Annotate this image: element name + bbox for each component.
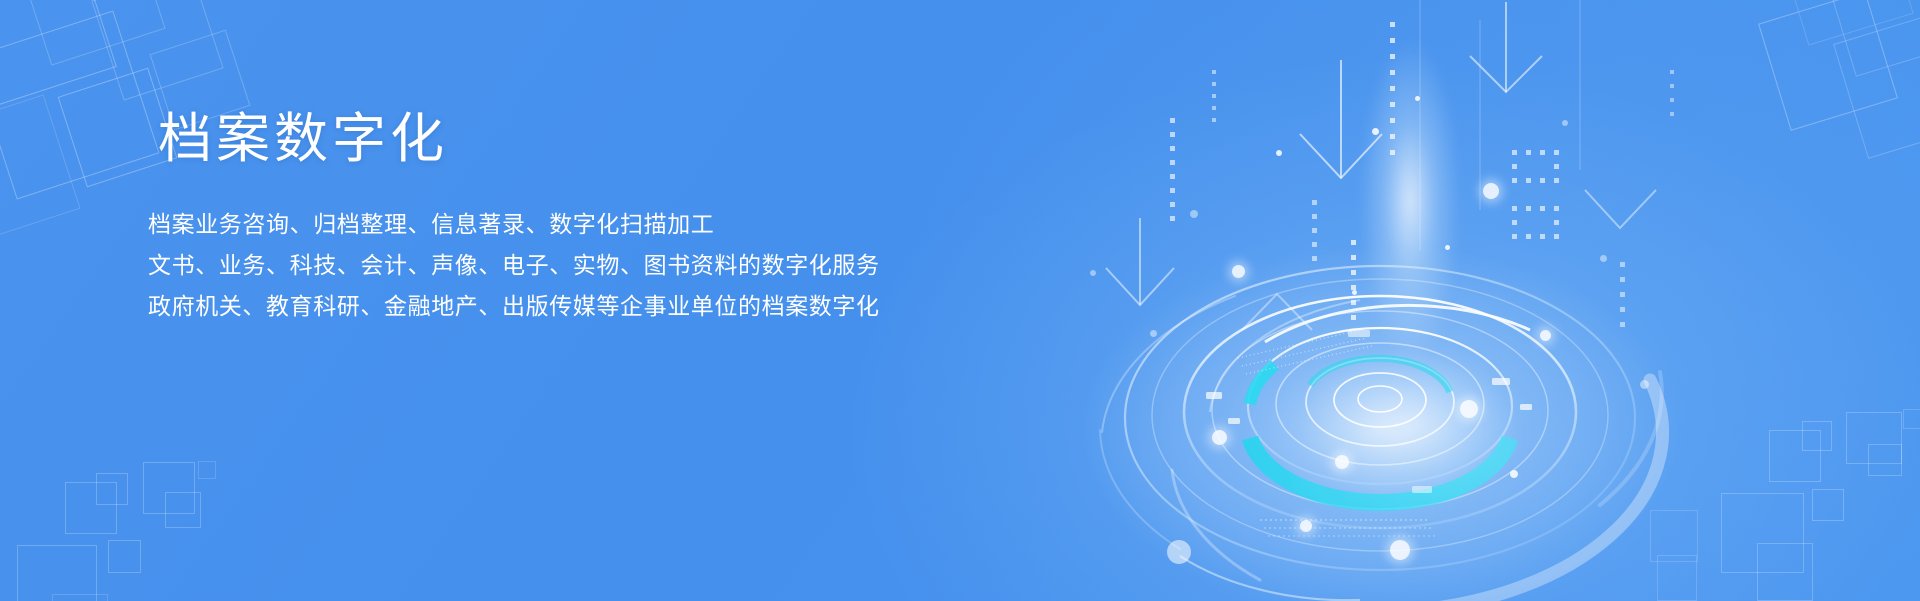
hero-banner: 档案数字化 档案业务咨询、归档整理、信息著录、数字化扫描加工 文书、业务、科技、… [0, 0, 1920, 601]
tech-hud-graphic [1060, 0, 1920, 601]
hud-cyan-accent [1250, 358, 1510, 502]
hud-rings [1125, 266, 1635, 570]
hud-guide-lines [1420, 0, 1580, 250]
banner-subtitle-line-1: 档案业务咨询、归档整理、信息著录、数字化扫描加工 [148, 204, 968, 245]
page-title: 档案数字化 [158, 108, 968, 170]
banner-subtitle-line-2: 文书、业务、科技、会计、声像、电子、实物、图书资料的数字化服务 [148, 245, 968, 286]
data-particles [1170, 22, 1674, 327]
down-arrow [1585, 190, 1656, 228]
hud-disk-glow [1080, 245, 1680, 601]
down-arrow [1470, 2, 1542, 92]
hud-tick-marks [1206, 330, 1532, 493]
light-beam [1330, 0, 1490, 390]
down-arrow [1106, 218, 1174, 305]
banner-subtitle-line-3: 政府机关、教育科研、金融地产、出版传媒等企事业单位的档案数字化 [148, 286, 968, 327]
hud-connector-node [1167, 540, 1360, 600]
hud-hatch-bands [1238, 330, 1438, 536]
banner-text-block: 档案数字化 档案业务咨询、归档整理、信息著录、数字化扫描加工 文书、业务、科技、… [148, 108, 968, 327]
center-glow [1250, 300, 1570, 550]
hud-highlight-arc [1210, 300, 1530, 412]
up-arrow [1242, 294, 1312, 330]
hud-outer-arcs [1100, 296, 1663, 601]
down-arrow [1300, 60, 1382, 178]
